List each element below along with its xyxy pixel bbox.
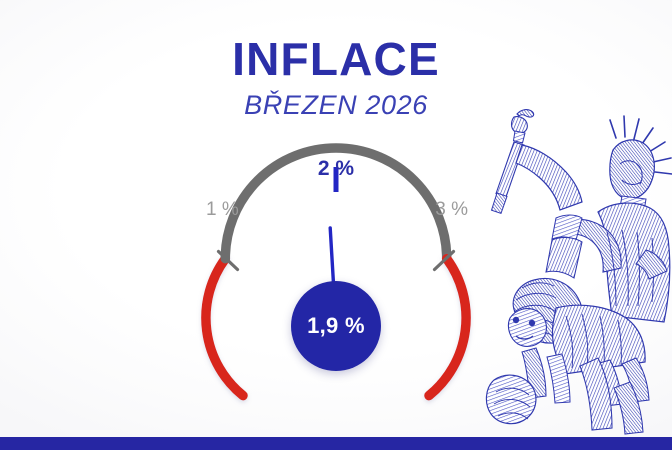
torso-drapery-icon (546, 203, 670, 322)
page-subtitle: BŘEZEN 2026 (0, 92, 672, 119)
head-with-crown-icon (610, 116, 672, 217)
inflation-infographic: INFLACE BŘEZEN 2026 (0, 0, 672, 450)
title-block: INFLACE BŘEZEN 2026 (0, 36, 672, 119)
figure-legs-icon (580, 358, 643, 434)
gauge-segment-above-tolerance (429, 259, 466, 396)
statue-icon (470, 92, 672, 437)
gauge-tick-label-1-percent: 1 % (206, 200, 239, 219)
lion-icon (486, 279, 649, 424)
torch-icon (492, 110, 583, 214)
gauge-tick-label-2-percent: 2 % (318, 158, 354, 179)
statue-engraving-illustration (470, 92, 672, 437)
inflation-value: 1,9 % (307, 315, 365, 337)
gauge-segment-below-tolerance (206, 259, 243, 396)
page-title: INFLACE (0, 36, 672, 82)
gauge-tick-label-3-percent: 3 % (435, 200, 468, 219)
bottom-accent-bar (0, 437, 672, 450)
inflation-value-bubble: 1,9 % (291, 281, 381, 371)
